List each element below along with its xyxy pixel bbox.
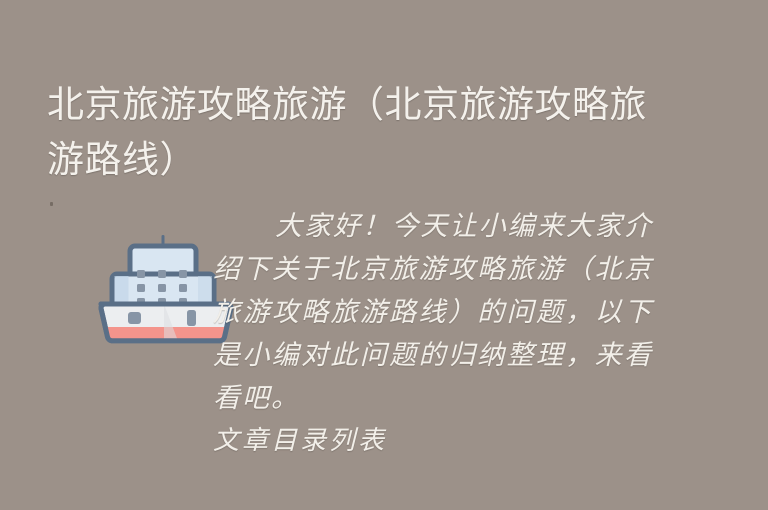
article-body: 大家好！今天让小编来大家介绍下关于北京旅游攻略旅游（北京旅游攻略旅游路线）的问题…	[213, 205, 653, 459]
intro-paragraph: 大家好！今天让小编来大家介绍下关于北京旅游攻略旅游（北京旅游攻略旅游路线）的问题…	[213, 205, 653, 420]
raster-speck-artifact	[50, 202, 53, 206]
page-title: 北京旅游攻略旅游（北京旅游攻略旅游路线）	[47, 77, 667, 187]
toc-heading: 文章目录列表	[213, 420, 653, 459]
article-page: 北京旅游攻略旅游（北京旅游攻略旅游路线）	[0, 0, 768, 510]
